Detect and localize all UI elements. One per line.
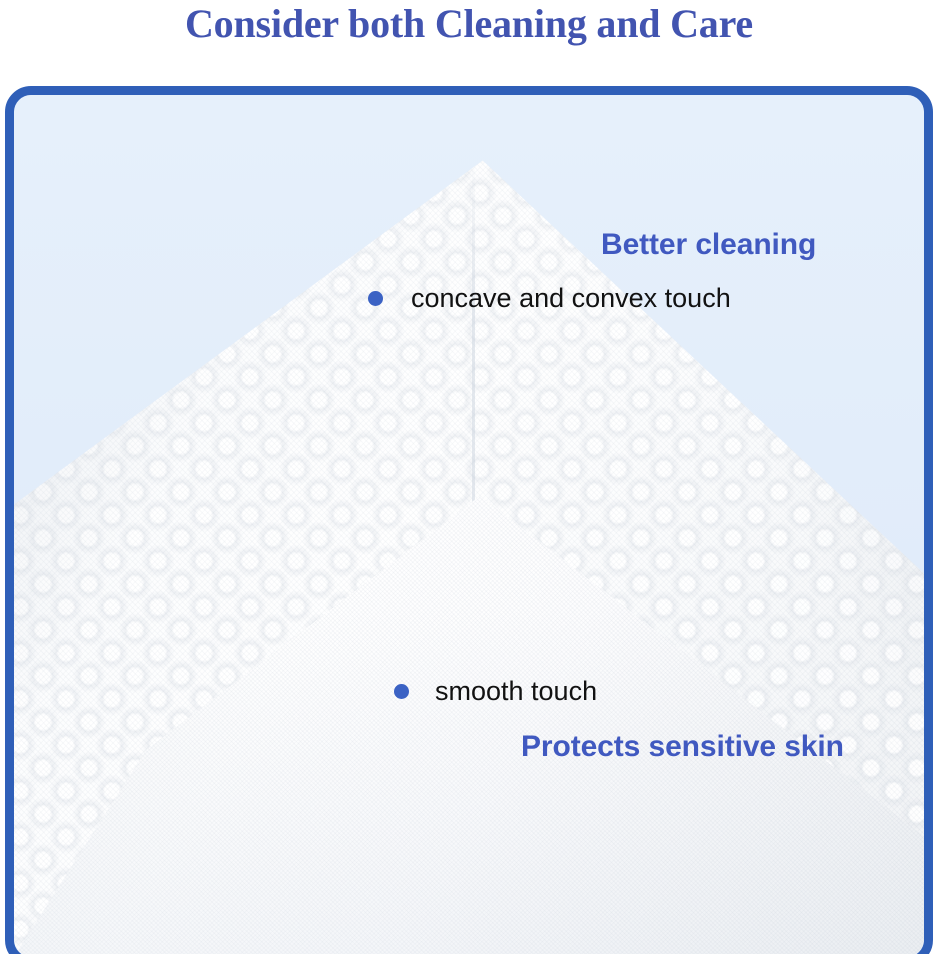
- callout-bullet-concave-convex: concave and convex touch: [368, 283, 731, 314]
- feature-card: [5, 86, 933, 954]
- callout-heading-better-cleaning: Better cleaning: [601, 228, 816, 262]
- callout-heading-protects-sensitive-skin: Protects sensitive skin: [521, 730, 844, 764]
- callout-bullet-text: concave and convex touch: [411, 283, 731, 314]
- page-title: Consider both Cleaning and Care: [0, 0, 938, 50]
- callout-bullet-text: smooth touch: [435, 676, 597, 707]
- feature-card-inner: [14, 95, 924, 954]
- bullet-dot-icon: [368, 291, 383, 306]
- bullet-dot-icon: [394, 684, 409, 699]
- callout-bullet-smooth-touch: smooth touch: [394, 676, 597, 707]
- product-feature-graphic: Consider both Cleaning and Care Better c…: [0, 0, 938, 954]
